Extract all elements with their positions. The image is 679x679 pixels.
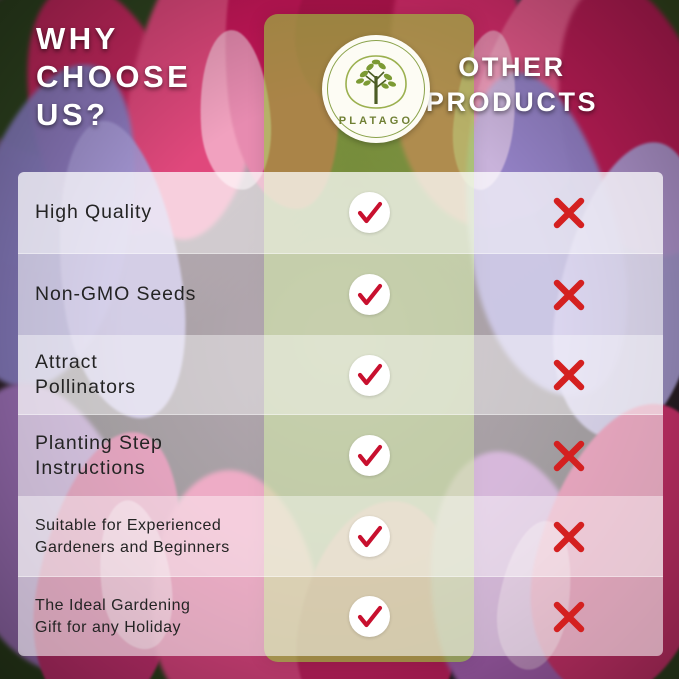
check-mark-badge [349, 516, 390, 557]
cross-mark-icon [552, 439, 586, 473]
check-mark-icon [357, 362, 383, 388]
cross-mark-icon [552, 358, 586, 392]
feature-label-line: Gift for any Holiday [35, 617, 264, 639]
table-row: Planting Step Instructions [18, 415, 663, 497]
feature-label: Planting Step Instructions [18, 431, 264, 481]
feature-label-line: Instructions [35, 456, 264, 481]
ours-cell [264, 274, 475, 315]
feature-label: The Ideal Gardening Gift for any Holiday [18, 595, 264, 639]
cross-mark-icon [552, 278, 586, 312]
cross-mark-icon [552, 196, 586, 230]
title-line-1: WHY [36, 20, 266, 58]
comparison-table: High Quality Non-GMO Seeds [18, 172, 663, 656]
check-mark-badge [349, 274, 390, 315]
brand-name: PLATAGO [328, 115, 424, 127]
table-row: Attract Pollinators [18, 336, 663, 415]
theirs-cell [475, 520, 663, 554]
brand-logo-badge: PLATAGO [322, 35, 430, 143]
feature-label-line: Gardeners and Beginners [35, 537, 264, 559]
feature-label-line: High Quality [35, 200, 264, 225]
page-title-left: WHY CHOOSE US? [36, 20, 266, 134]
feature-label: Non-GMO Seeds [18, 282, 264, 307]
feature-label-line: Non-GMO Seeds [35, 282, 264, 307]
check-mark-icon [357, 524, 383, 550]
table-row: Suitable for Experienced Gardeners and B… [18, 497, 663, 577]
cross-mark-icon [552, 520, 586, 554]
feature-label: High Quality [18, 200, 264, 225]
feature-label-line: The Ideal Gardening [35, 595, 264, 617]
feature-label-line: Suitable for Experienced [35, 515, 264, 537]
feature-label: Suitable for Experienced Gardeners and B… [18, 515, 264, 559]
check-mark-icon [357, 282, 383, 308]
brand-logo-ring: PLATAGO [327, 40, 425, 138]
title-line-3: US? [36, 96, 266, 134]
feature-label-line: Attract [35, 350, 264, 375]
check-mark-badge [349, 192, 390, 233]
feature-label-line: Planting Step [35, 431, 264, 456]
ours-cell [264, 192, 475, 233]
table-row: The Ideal Gardening Gift for any Holiday [18, 577, 663, 656]
check-mark-badge [349, 435, 390, 476]
check-mark-badge [349, 355, 390, 396]
feature-label-line: Pollinators [35, 375, 264, 400]
ours-cell [264, 435, 475, 476]
theirs-cell [475, 278, 663, 312]
ours-cell [264, 516, 475, 557]
theirs-cell [475, 358, 663, 392]
theirs-cell [475, 196, 663, 230]
check-mark-badge [349, 596, 390, 637]
theirs-cell [475, 439, 663, 473]
promo-comparison-image: WHY CHOOSE US? OTHER PRODUCTS [0, 0, 679, 679]
check-mark-icon [357, 604, 383, 630]
check-mark-icon [357, 443, 383, 469]
check-mark-icon [357, 200, 383, 226]
table-row: High Quality [18, 172, 663, 254]
theirs-cell [475, 600, 663, 634]
table-row: Non-GMO Seeds [18, 254, 663, 336]
cross-mark-icon [552, 600, 586, 634]
ours-cell [264, 596, 475, 637]
title-line-2: CHOOSE [36, 58, 266, 96]
feature-label: Attract Pollinators [18, 350, 264, 400]
ours-cell [264, 355, 475, 396]
